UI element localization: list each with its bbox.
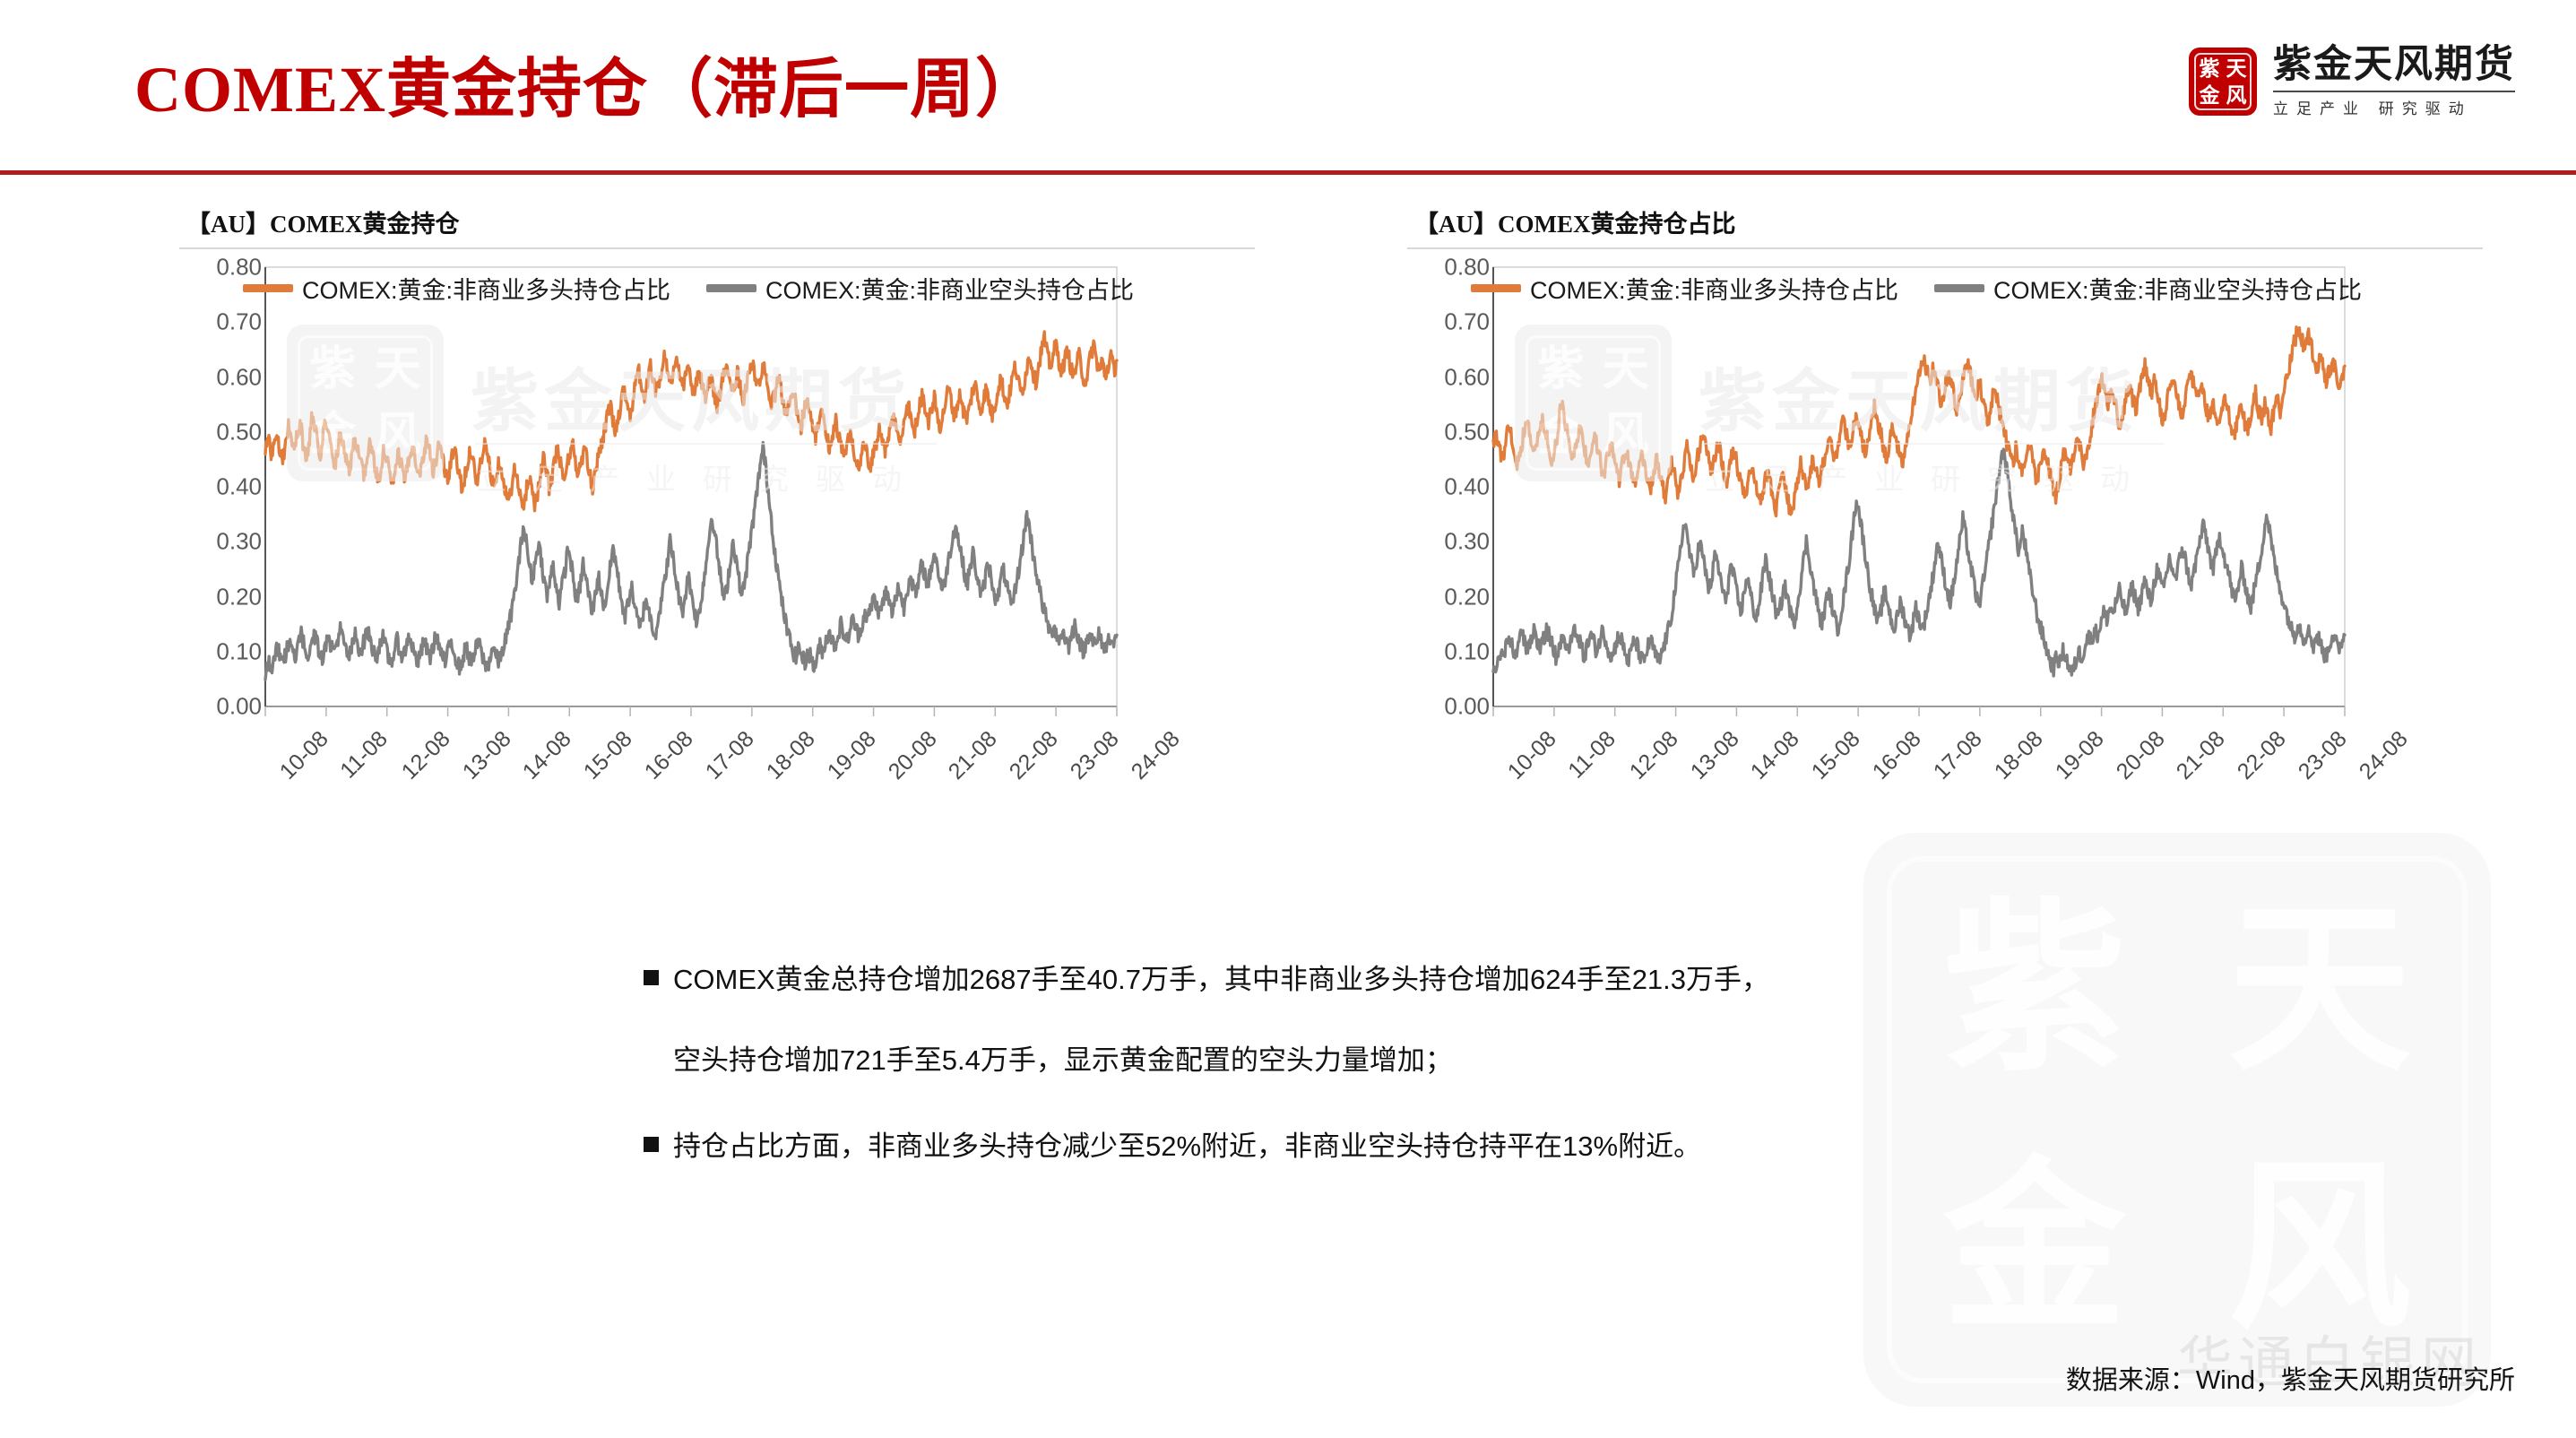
- y-axis-tick-label: 0.50: [1414, 418, 1490, 446]
- chart-series-line: [265, 332, 1117, 511]
- seal-char-2: 天: [2226, 58, 2247, 79]
- bullet-item: 持仓占比方面，非商业多头持仓减少至52%附近，非商业空头持仓持平在13%附近。: [644, 1124, 1943, 1169]
- legend-item-short: COMEX:黄金:非商业空头持仓占比: [1934, 271, 2362, 306]
- summary-bullets: COMEX黄金总持仓增加2687手至40.7万手，其中非商业多头持仓增加624手…: [644, 957, 1943, 1211]
- y-axis-tick-label: 0.30: [186, 528, 262, 556]
- watermark-char-4: 风: [2228, 1157, 2412, 1341]
- y-axis-tick-label: 0.60: [1414, 363, 1490, 391]
- bullet-square-icon: [644, 970, 659, 985]
- watermark-char-3: 金: [1943, 1157, 2127, 1341]
- y-axis-tick-label: 0.60: [186, 363, 262, 391]
- page-title: COMEX黄金持仓（滞后一周）: [134, 36, 1041, 130]
- bullet-square-icon: [644, 1137, 659, 1152]
- chart-holdings-ratio: 紫 天 金 风 紫金天风期货 立足产业研究驱动 COMEX:黄金:非商业多头持仓…: [1407, 262, 2357, 809]
- brand-logo: 紫 天 金 风 紫金天风期货 立足产业 研究驱动: [2189, 43, 2515, 120]
- brand-tagline: 立足产业 研究驱动: [2273, 96, 2515, 118]
- brand-name: 紫金天风期货: [2273, 45, 2515, 85]
- chart-holdings: 紫 天 金 风 紫金天风期货 立足产业研究驱动 COMEX:黄金:非商业多头持仓…: [179, 262, 1129, 809]
- y-axis-tick-label: 0.20: [186, 583, 262, 611]
- watermark-char-1: 紫: [1943, 899, 2127, 1083]
- y-axis-tick-label: 0.70: [1414, 308, 1490, 336]
- bullet-item: COMEX黄金总持仓增加2687手至40.7万手，其中非商业多头持仓增加624手…: [644, 957, 1943, 1083]
- legend-swatch-short-icon: [1934, 284, 1984, 292]
- seal-char-1: 紫: [2200, 58, 2220, 79]
- chart-plot-area: [1407, 262, 2357, 809]
- slide-header: COMEX黄金持仓（滞后一周） 紫 天 金 风 紫金天风期货 立足产业 研究驱动: [0, 0, 2576, 173]
- chart-panel-title: 【AU】COMEX黄金持仓: [179, 204, 1255, 239]
- brand-divider: [2273, 91, 2515, 92]
- legend-item-long: COMEX:黄金:非商业多头持仓占比: [1471, 271, 1898, 306]
- legend-item-long: COMEX:黄金:非商业多头持仓占比: [243, 271, 670, 306]
- legend-label-short: COMEX:黄金:非商业空头持仓占比: [765, 271, 1134, 306]
- chart-plot-area: [179, 262, 1129, 809]
- background-watermark-seal: 紫 天 金 风: [1863, 833, 2491, 1407]
- y-axis-tick-label: 0.20: [1414, 583, 1490, 611]
- seal-char-3: 金: [2200, 85, 2220, 106]
- chart-panel-holdings-ratio: 【AU】COMEX黄金持仓占比 紫 天 金 风 紫金天风期货 立足产业研究驱动 …: [1407, 204, 2483, 809]
- bullet-line: 空头持仓增加721手至5.4万手，显示黄金配置的空头力量增加；: [673, 1038, 1769, 1083]
- y-axis-tick-label: 0.00: [1414, 693, 1490, 721]
- chart-legend: COMEX:黄金:非商业多头持仓占比 COMEX:黄金:非商业空头持仓占比: [1513, 271, 2320, 306]
- y-axis-tick-label: 0.70: [186, 308, 262, 336]
- legend-swatch-long-icon: [1471, 284, 1521, 292]
- y-axis-tick-label: 0.50: [186, 418, 262, 446]
- chart-panel-holdings: 【AU】COMEX黄金持仓 紫 天 金 风 紫金天风期货 立足产业研究驱动 CO…: [179, 204, 1255, 809]
- chart-panel-divider: [179, 247, 1255, 249]
- chart-panel-divider: [1407, 247, 2483, 249]
- data-source-note: 数据来源：Wind，紫金天风期货研究所: [2066, 1359, 2515, 1397]
- brand-seal-icon: 紫 天 金 风: [2189, 48, 2257, 116]
- y-axis-tick-label: 0.30: [1414, 528, 1490, 556]
- y-axis-tick-label: 0.40: [1414, 473, 1490, 501]
- y-axis-tick-label: 0.10: [1414, 637, 1490, 665]
- legend-swatch-short-icon: [706, 284, 756, 292]
- y-axis-ticks: 0.800.700.600.500.400.300.200.100.00: [1407, 262, 1490, 809]
- chart-panel-title: 【AU】COMEX黄金持仓占比: [1407, 204, 2483, 239]
- x-axis-tick-label: 24-08: [1127, 726, 1186, 785]
- legend-swatch-long-icon: [243, 284, 293, 292]
- header-divider: [0, 170, 2576, 175]
- y-axis-ticks: 0.800.700.600.500.400.300.200.100.00: [179, 262, 262, 809]
- y-axis-tick-label: 0.00: [186, 693, 262, 721]
- x-axis-tick-label: 24-08: [2355, 726, 2414, 785]
- chart-legend: COMEX:黄金:非商业多头持仓占比 COMEX:黄金:非商业空头持仓占比: [285, 271, 1092, 306]
- legend-label-long: COMEX:黄金:非商业多头持仓占比: [302, 271, 670, 306]
- y-axis-tick-label: 0.40: [186, 473, 262, 501]
- bullet-line: 持仓占比方面，非商业多头持仓减少至52%附近，非商业空头持仓持平在13%附近。: [673, 1124, 1701, 1169]
- y-axis-tick-label: 0.10: [186, 637, 262, 665]
- chart-series-line: [1493, 327, 2345, 516]
- bullet-line: COMEX黄金总持仓增加2687手至40.7万手，其中非商业多头持仓增加624手…: [673, 957, 1769, 1002]
- legend-label-short: COMEX:黄金:非商业空头持仓占比: [1993, 271, 2362, 306]
- legend-label-long: COMEX:黄金:非商业多头持仓占比: [1530, 271, 1898, 306]
- legend-item-short: COMEX:黄金:非商业空头持仓占比: [706, 271, 1134, 306]
- seal-char-4: 风: [2226, 85, 2247, 106]
- watermark-char-2: 天: [2228, 899, 2412, 1083]
